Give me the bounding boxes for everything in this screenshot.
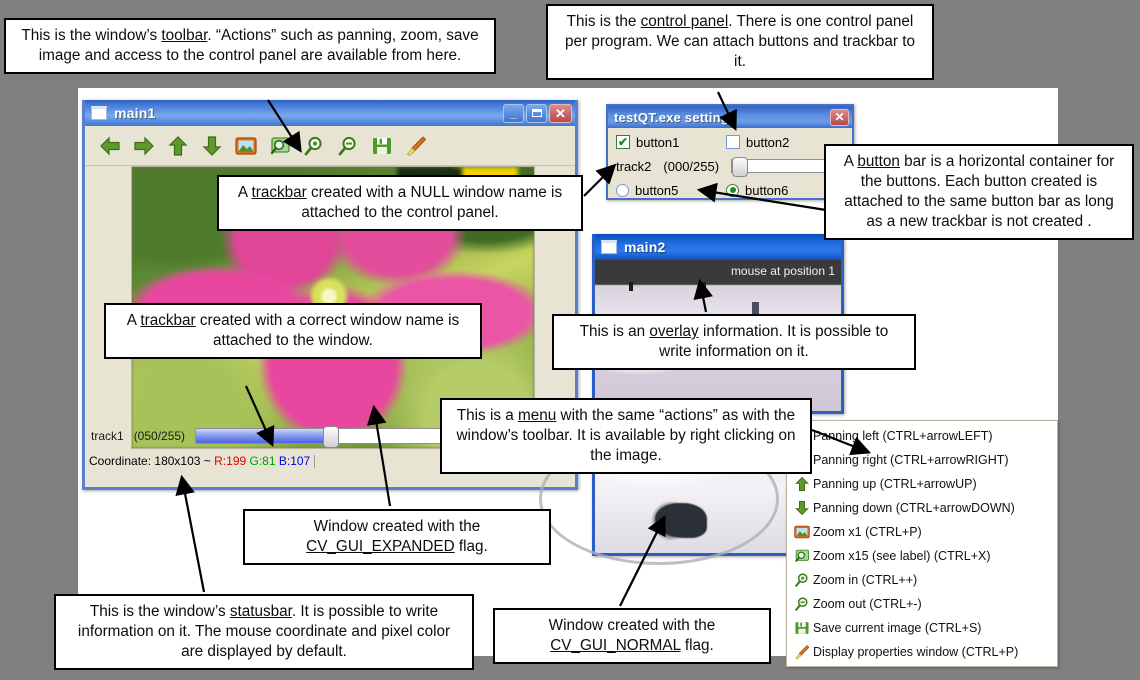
- main1-toolbar[interactable]: [85, 126, 575, 166]
- statusbar-separator: ~: [204, 454, 211, 468]
- callout-line1: Window created with the: [314, 518, 481, 535]
- menu-item-label: Save current image (CTRL+S): [813, 621, 981, 635]
- menu-item-label: Panning right (CTRL+arrowRIGHT): [813, 453, 1009, 467]
- callout-keyword-trackbar: trackbar: [140, 312, 195, 329]
- checkbox-empty-icon[interactable]: [726, 135, 740, 149]
- main1-title: main1: [114, 105, 155, 121]
- menu-item-save-image[interactable]: Save current image (CTRL+S): [787, 616, 1057, 640]
- zoom-in-icon[interactable]: [301, 133, 327, 159]
- radio-button5-label: button5: [635, 183, 678, 198]
- callout-line1: Window created with the: [549, 617, 716, 634]
- statusbar-blue-value: B:107: [279, 454, 310, 468]
- menu-item-zoom-in[interactable]: Zoom in (CTRL++): [787, 568, 1057, 592]
- window-doc-icon: [601, 240, 617, 254]
- callout-trackbar-null: A trackbar created with a NULL window na…: [217, 175, 583, 231]
- callout-keyword-menu: menu: [518, 407, 556, 424]
- context-menu[interactable]: Panning left (CTRL+arrowLEFT) Panning ri…: [786, 420, 1058, 667]
- close-button[interactable]: ✕: [549, 104, 572, 123]
- callout-toolbar: This is the window’s toolbar. “Actions” …: [4, 18, 496, 74]
- cp-trackbar-knob[interactable]: [732, 157, 748, 177]
- menu-item-panning-right[interactable]: Panning right (CTRL+arrowRIGHT): [787, 448, 1057, 472]
- statusbar-caret: [314, 455, 315, 468]
- callout-control-panel: This is the control panel. There is one …: [546, 4, 934, 80]
- menu-item-label: Display properties window (CTRL+P): [813, 645, 1018, 659]
- statusbar-prefix: Coordinate:: [89, 454, 151, 468]
- callout-trackbar-window: A trackbar created with a correct window…: [104, 303, 482, 359]
- zoom-out-icon[interactable]: [335, 133, 361, 159]
- display-properties-icon: [791, 644, 813, 660]
- maximize-button[interactable]: [526, 104, 547, 123]
- menu-item-panning-down[interactable]: Panning down (CTRL+arrowDOWN): [787, 496, 1057, 520]
- menu-item-label: Zoom in (CTRL++): [813, 573, 917, 587]
- zoom-in-icon: [791, 572, 813, 588]
- zoom-x15-icon: [791, 548, 813, 564]
- callout-keyword-overlay: overlay: [649, 323, 698, 340]
- menu-item-label: Panning down (CTRL+arrowDOWN): [813, 501, 1015, 515]
- statusbar-coordinate: 180x103: [154, 454, 200, 468]
- callout-overlay: This is an overlay information. It is po…: [552, 314, 916, 370]
- zoom-x1-icon[interactable]: [233, 133, 259, 159]
- menu-item-label: Zoom x1 (CTRL+P): [813, 525, 922, 539]
- callout-gui-normal: Window created with the CV_GUI_NORMAL fl…: [493, 608, 771, 664]
- callout-suffix: flag.: [681, 637, 714, 654]
- close-icon[interactable]: ✕: [830, 109, 849, 126]
- callout-statusbar: This is the window’s statusbar. It is po…: [54, 594, 474, 670]
- callout-button-bar: A button bar is a horizontal container f…: [824, 144, 1134, 240]
- save-image-icon[interactable]: [369, 133, 395, 159]
- statusbar-green-value: G:81: [250, 454, 276, 468]
- panning-right-icon[interactable]: [131, 133, 157, 159]
- cp-trackbar-label: track2: [616, 159, 651, 174]
- control-panel-titlebar[interactable]: testQT.exe settings ✕: [608, 106, 852, 128]
- check-icon[interactable]: ✔: [616, 135, 630, 149]
- checkbox-button2[interactable]: button2: [726, 135, 830, 150]
- panning-down-icon: [791, 500, 813, 516]
- panning-up-icon[interactable]: [165, 133, 191, 159]
- menu-item-panning-up[interactable]: Panning up (CTRL+arrowUP): [787, 472, 1057, 496]
- callout-gui-expanded: Window created with the CV_GUI_EXPANDED …: [243, 509, 551, 565]
- trackbar-knob[interactable]: [323, 426, 339, 448]
- menu-item-zoom-out[interactable]: Zoom out (CTRL+-): [787, 592, 1057, 616]
- minimize-button[interactable]: _: [503, 104, 524, 123]
- menu-item-label: Zoom x15 (see label) (CTRL+X): [813, 549, 991, 563]
- radio-selected-icon[interactable]: [726, 184, 739, 197]
- main1-titlebar[interactable]: main1 _ ✕: [85, 100, 575, 126]
- callout-flag-name: CV_GUI_EXPANDED: [306, 538, 454, 555]
- trackbar-label: track1: [91, 429, 124, 443]
- callout-keyword-control-panel: control panel: [641, 13, 729, 30]
- cp-trackbar-value: (000/255): [663, 159, 719, 174]
- zoom-x1-icon: [791, 524, 813, 540]
- zoom-x15-icon[interactable]: [267, 133, 293, 159]
- control-panel-trackbar[interactable]: track2 (000/255): [608, 154, 852, 178]
- radio-empty-icon[interactable]: [616, 184, 629, 197]
- radio-button6[interactable]: button6: [726, 183, 830, 198]
- menu-item-zoom-x1[interactable]: Zoom x1 (CTRL+P): [787, 520, 1057, 544]
- display-properties-icon[interactable]: [403, 133, 429, 159]
- callout-keyword-toolbar: toolbar: [161, 27, 207, 44]
- window-doc-icon: [91, 106, 107, 120]
- statusbar-red-value: R:199: [214, 454, 246, 468]
- menu-item-label: Zoom out (CTRL+-): [813, 597, 922, 611]
- menu-item-display-properties[interactable]: Display properties window (CTRL+P): [787, 640, 1057, 664]
- panning-down-icon[interactable]: [199, 133, 225, 159]
- checkbox-button2-label: button2: [746, 135, 789, 150]
- main2-overlay: mouse at position 1: [595, 260, 841, 282]
- panning-up-icon: [791, 476, 813, 492]
- control-panel-button-bar: ✔ button1 button2: [608, 130, 852, 154]
- callout-keyword-button: button: [857, 153, 900, 170]
- callout-suffix: flag.: [455, 538, 488, 555]
- radio-button6-label: button6: [745, 183, 788, 198]
- menu-item-zoom-x15[interactable]: Zoom x15 (see label) (CTRL+X): [787, 544, 1057, 568]
- panning-left-icon[interactable]: [97, 133, 123, 159]
- control-panel-radio-bar: button5 button6: [608, 178, 852, 202]
- zoom-out-icon: [791, 596, 813, 612]
- callout-flag-name: CV_GUI_NORMAL: [550, 637, 680, 654]
- window-control-panel[interactable]: testQT.exe settings ✕ ✔ button1 button2 …: [606, 104, 854, 200]
- main2-titlebar[interactable]: main2: [595, 234, 841, 260]
- save-image-icon: [791, 620, 813, 636]
- callout-menu: This is a menu with the same “actions” a…: [440, 398, 812, 474]
- trackbar-fill: [196, 429, 337, 443]
- radio-button5[interactable]: button5: [616, 183, 720, 198]
- trackbar-value: (050/255): [134, 429, 185, 443]
- checkbox-button1-label: button1: [636, 135, 679, 150]
- menu-item-panning-left[interactable]: Panning left (CTRL+arrowLEFT): [787, 424, 1057, 448]
- callout-keyword-statusbar: statusbar: [230, 603, 292, 620]
- main1-titlebar-buttons: _ ✕: [503, 104, 572, 123]
- checkbox-button1[interactable]: ✔ button1: [616, 135, 720, 150]
- menu-item-label: Panning up (CTRL+arrowUP): [813, 477, 977, 491]
- main2-title: main2: [624, 239, 665, 255]
- callout-keyword-trackbar: trackbar: [251, 184, 306, 201]
- menu-item-label: Panning left (CTRL+arrowLEFT): [813, 429, 993, 443]
- control-panel-title: testQT.exe settings: [614, 110, 736, 125]
